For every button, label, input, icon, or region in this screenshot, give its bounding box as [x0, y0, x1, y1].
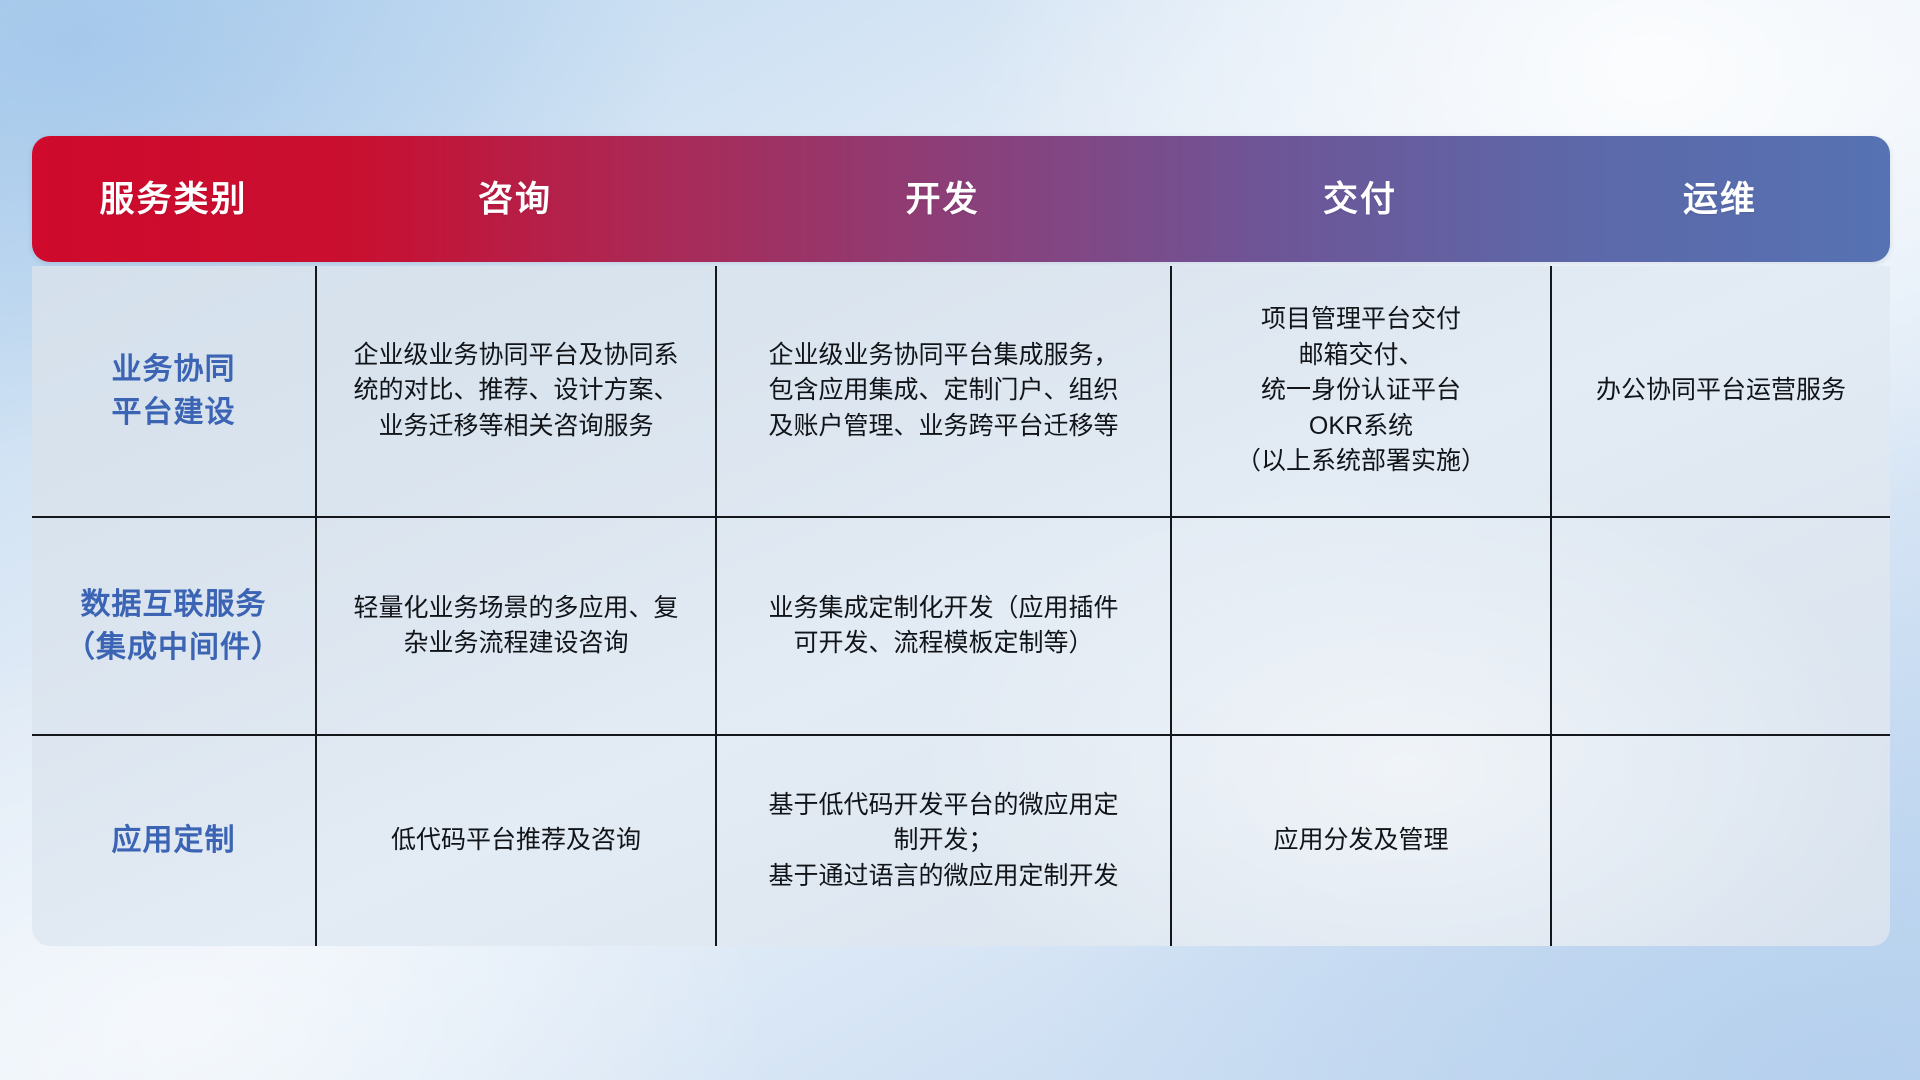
cell-category-business-collaboration: 业务协同 平台建设	[32, 266, 315, 516]
cell-operations-business-collaboration: 办公协同平台运营服务	[1550, 266, 1890, 516]
table-body: 业务协同 平台建设 企业级业务协同平台及协同系 统的对比、推荐、设计方案、 业务…	[32, 266, 1890, 946]
cell-operations-data-interconnect	[1550, 518, 1890, 734]
cell-delivery-data-interconnect	[1170, 518, 1550, 734]
cell-delivery-app-customization: 应用分发及管理	[1170, 736, 1550, 946]
cell-development-app-customization: 基于低代码开发平台的微应用定 制开发； 基于通过语言的微应用定制开发	[715, 736, 1170, 946]
column-header-delivery: 交付	[1170, 136, 1550, 262]
table-row: 业务协同 平台建设 企业级业务协同平台及协同系 统的对比、推荐、设计方案、 业务…	[32, 266, 1890, 516]
table-row: 数据互联服务 （集成中间件） 轻量化业务场景的多应用、复 杂业务流程建设咨询 业…	[32, 516, 1890, 734]
cell-category-app-customization: 应用定制	[32, 736, 315, 946]
cell-delivery-business-collaboration: 项目管理平台交付 邮箱交付、 统一身份认证平台 OKR系统 （以上系统部署实施）	[1170, 266, 1550, 516]
table-row: 应用定制 低代码平台推荐及咨询 基于低代码开发平台的微应用定 制开发； 基于通过…	[32, 734, 1890, 946]
cell-category-data-interconnect: 数据互联服务 （集成中间件）	[32, 518, 315, 734]
column-header-consulting: 咨询	[315, 136, 715, 262]
column-header-operations: 运维	[1550, 136, 1890, 262]
cell-consulting-business-collaboration: 企业级业务协同平台及协同系 统的对比、推荐、设计方案、 业务迁移等相关咨询服务	[315, 266, 715, 516]
column-header-development: 开发	[715, 136, 1170, 262]
table-header-row: 服务类别 咨询 开发 交付 运维	[32, 136, 1890, 262]
page-background: 服务类别 咨询 开发 交付 运维 业务协同 平台建设 企业级业务协同平台及协同系…	[0, 0, 1920, 1080]
service-matrix-table: 服务类别 咨询 开发 交付 运维 业务协同 平台建设 企业级业务协同平台及协同系…	[32, 136, 1890, 946]
cell-development-data-interconnect: 业务集成定制化开发（应用插件 可开发、流程模板定制等）	[715, 518, 1170, 734]
cell-development-business-collaboration: 企业级业务协同平台集成服务， 包含应用集成、定制门户、组织 及账户管理、业务跨平…	[715, 266, 1170, 516]
cell-operations-app-customization	[1550, 736, 1890, 946]
column-header-category: 服务类别	[32, 136, 315, 262]
cell-consulting-app-customization: 低代码平台推荐及咨询	[315, 736, 715, 946]
cell-consulting-data-interconnect: 轻量化业务场景的多应用、复 杂业务流程建设咨询	[315, 518, 715, 734]
